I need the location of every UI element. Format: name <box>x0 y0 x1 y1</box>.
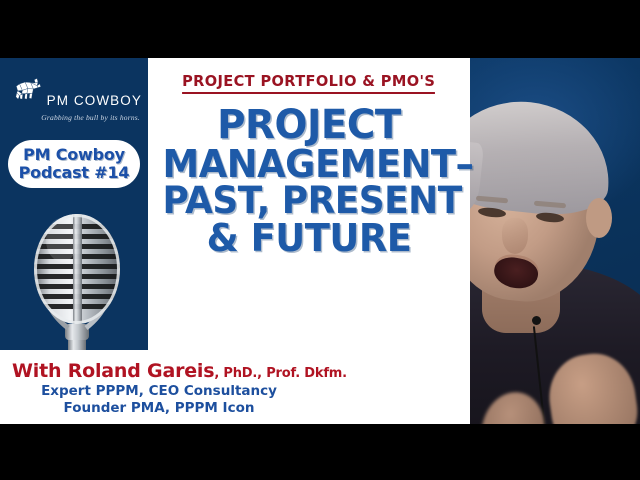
video-canvas: PROJECT PORTFOLIO & PMO'S PROJECT MANAGE… <box>0 58 640 424</box>
title-line-1: PROJECT <box>163 106 456 146</box>
brand-logo: PM COWBOY Grabbing the bull by its horns… <box>14 66 142 122</box>
badge-line-1: PM Cowboy <box>12 146 136 164</box>
title-line-3: PAST, PRESENT <box>163 183 456 220</box>
podcast-badge: PM Cowboy Podcast #14 <box>8 140 140 188</box>
speaker-ear <box>586 198 612 238</box>
letterbox-bottom <box>0 424 640 480</box>
panel-kicker: PROJECT PORTFOLIO & PMO'S <box>182 72 435 94</box>
bull-logo-icon <box>14 66 43 112</box>
panel-title: PROJECT MANAGEMENT– PAST, PRESENT & FUTU… <box>163 106 456 257</box>
letterbox-top <box>0 0 640 58</box>
credit-role-line: Expert PPPM, CEO Consultancy <box>12 383 306 399</box>
credit-founder-line: Founder PMA, PPPM Icon <box>12 400 306 416</box>
speaker-nose <box>502 218 528 254</box>
video-frame: PROJECT PORTFOLIO & PMO'S PROJECT MANAGE… <box>0 0 640 480</box>
credit-name: Roland Gareis <box>68 360 215 382</box>
logo-row: PM COWBOY <box>14 66 142 112</box>
title-line-2: MANAGEMENT– <box>163 146 456 184</box>
lapel-mic-icon <box>532 316 541 325</box>
credit-credentials: , PhD., Prof. Dkfm. <box>214 366 347 381</box>
logo-tagline: Grabbing the bull by its horns. <box>14 113 142 122</box>
badge-line-2: Podcast #14 <box>12 164 136 182</box>
credit-with: With <box>12 360 61 382</box>
logo-wordmark: PM COWBOY <box>47 93 142 112</box>
speaker-credit: With Roland Gareis, PhD., Prof. Dkfm. Ex… <box>0 350 332 424</box>
title-line-4: & FUTURE <box>163 220 456 258</box>
credit-name-line: With Roland Gareis, PhD., Prof. Dkfm. <box>12 360 306 382</box>
